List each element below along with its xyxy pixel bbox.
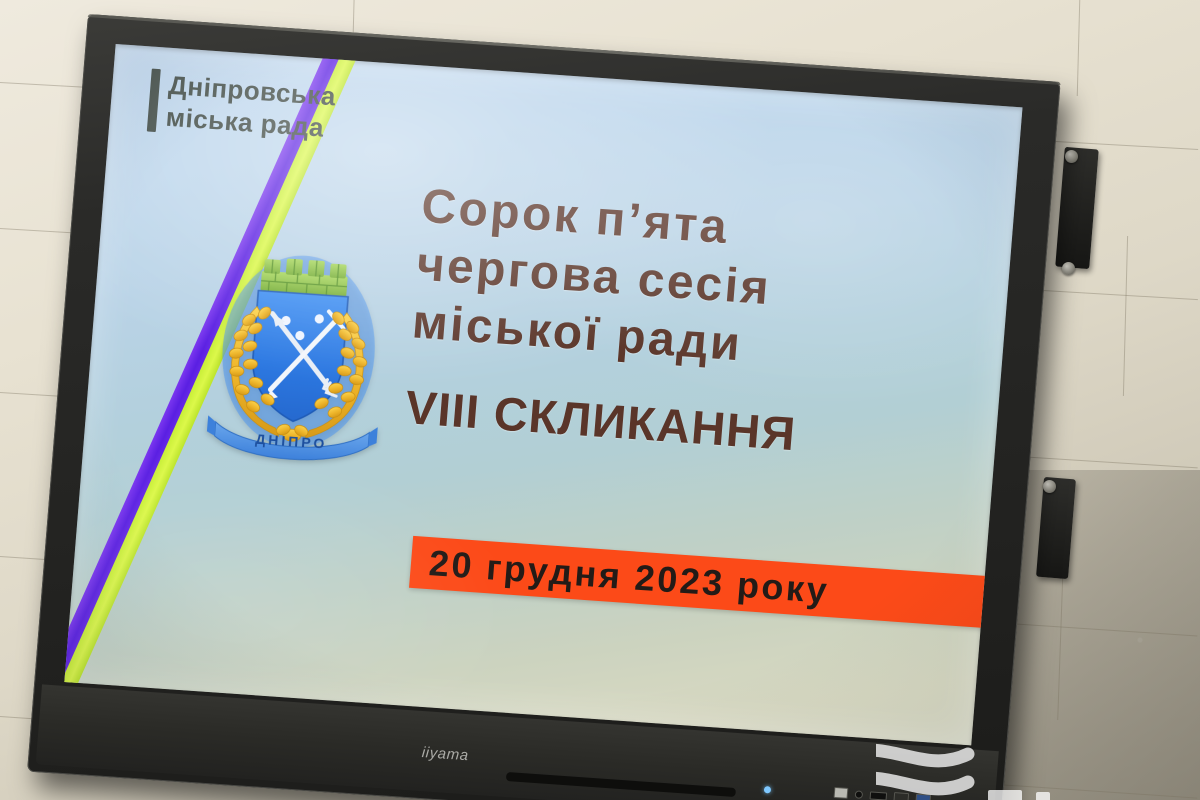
lan-port [834, 787, 849, 799]
slide-title: Сорок п’ята чергова сесія міської ради V… [403, 178, 1022, 476]
usb3-port [893, 792, 909, 800]
logo-text: Дніпровська міська рада [165, 70, 337, 145]
dnipro-coat-of-arms-icon: ДНІПРО [205, 234, 393, 470]
iiyama-brand-logo: iiyama [421, 744, 469, 764]
display-screen[interactable]: Дніпровська міська рада [64, 44, 1022, 745]
hdmi-port [870, 791, 888, 800]
usb-port [915, 794, 931, 800]
mount-screw [1065, 150, 1078, 163]
audio-jack [855, 790, 864, 799]
session-date-banner: 20 грудня 2023 року [409, 536, 991, 628]
mount-screw [1043, 480, 1056, 493]
convocation-label: VIII СКЛИКАННЯ [403, 379, 1006, 476]
session-date-text: 20 грудня 2023 року [427, 542, 830, 612]
mount-screw [1062, 262, 1075, 275]
wall-mounted-display[interactable]: iiyama Дніпровська міська рада [27, 14, 1061, 800]
logo-accent-bar [147, 69, 161, 133]
city-council-logo: Дніпровська міська рада [147, 69, 337, 145]
